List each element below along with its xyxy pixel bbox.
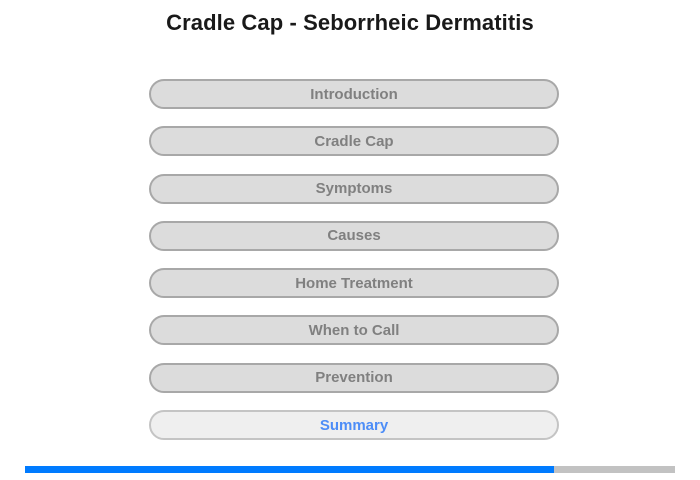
section-nav-list: Introduction Cradle Cap Symptoms Causes … [149,79,559,457]
nav-button-symptoms[interactable]: Symptoms [149,174,559,204]
nav-button-introduction[interactable]: Introduction [149,79,559,109]
nav-button-summary[interactable]: Summary [149,410,559,440]
nav-button-when-to-call[interactable]: When to Call [149,315,559,345]
progress-bar-track [25,466,675,473]
progress-bar-fill [25,466,554,473]
nav-button-prevention[interactable]: Prevention [149,363,559,393]
page-title: Cradle Cap - Seborrheic Dermatitis [0,10,700,36]
nav-button-cradle-cap[interactable]: Cradle Cap [149,126,559,156]
nav-button-causes[interactable]: Causes [149,221,559,251]
nav-button-home-treatment[interactable]: Home Treatment [149,268,559,298]
